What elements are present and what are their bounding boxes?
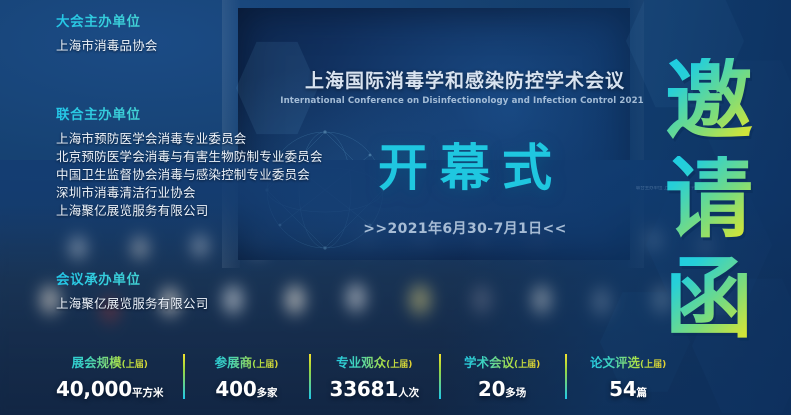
organizer-line: 上海市预防医学会消毒专业委员会: [56, 130, 356, 148]
stat-number: 400: [215, 377, 256, 401]
organizer-heading: 大会主办单位: [56, 10, 356, 30]
organizer-line: 深圳市消毒清洁行业协会: [56, 184, 356, 202]
stat-value: 400多家: [203, 377, 289, 401]
stat-unit: 多场: [505, 387, 526, 399]
stat-item-exhibitors: 参展商(上届) 400多家: [181, 352, 307, 401]
stat-unit: 人次: [398, 387, 419, 399]
stat-item-paper-selection: 论文评选(上届) 54篇: [563, 352, 689, 401]
stat-label-text: 论文评选: [590, 355, 640, 370]
organizer-heading: 联合主办单位: [56, 103, 356, 123]
stat-number: 54: [609, 377, 636, 401]
stat-item-exhibition-area: 展会规模(上届) 40,000平方米: [56, 352, 181, 401]
organizer-line: 中国卫生监督协会消毒与感染控制专业委员会: [56, 166, 356, 184]
stat-unit: 篇: [637, 387, 648, 399]
invitation-char-han: 函: [639, 256, 779, 342]
invitation-char-qing: 请: [639, 156, 779, 242]
stat-unit: 多家: [257, 387, 278, 399]
stat-label: 学术会议(上届): [459, 352, 545, 371]
invitation-char-yao: 邀: [639, 58, 779, 144]
invitation-poster: 上海国际消毒学和感染防控学术会议 International Conferenc…: [0, 0, 791, 415]
organizer-line: 上海聚亿展览服务有限公司: [56, 295, 356, 313]
organizer-heading: 会议承办单位: [56, 268, 356, 288]
stat-value: 40,000平方米: [56, 377, 163, 401]
statistics-bar: 展会规模(上届) 40,000平方米 参展商(上届) 400多家 专业观众(上届…: [56, 352, 689, 401]
stat-label-text: 参展商: [215, 355, 253, 370]
organizer-block-co-host: 联合主办单位 上海市预防医学会消毒专业委员会 北京预防医学会消毒与有害生物防制专…: [56, 103, 356, 220]
stat-item-professional-visitors: 专业观众(上届) 33681人次: [307, 352, 437, 401]
spacer: [56, 69, 356, 103]
stat-label-text: 专业观众: [336, 355, 386, 370]
stat-value: 33681人次: [329, 377, 419, 401]
stat-label-text: 展会规模: [72, 355, 122, 370]
stat-label-term: (上届): [640, 360, 666, 370]
stat-unit: 平方米: [132, 387, 164, 399]
stat-label-term: (上届): [514, 360, 540, 370]
stat-label-term: (上届): [252, 360, 278, 370]
stat-label-term: (上届): [122, 360, 148, 370]
stat-value: 20多场: [459, 377, 545, 401]
stat-value: 54篇: [585, 377, 671, 401]
organizer-line: 上海市消毒品协会: [56, 37, 356, 55]
organizer-block-host: 大会主办单位 上海市消毒品协会: [56, 10, 356, 55]
stat-label: 参展商(上届): [203, 352, 289, 371]
organizer-info-column: 大会主办单位 上海市消毒品协会 联合主办单位 上海市预防医学会消毒专业委员会 北…: [56, 10, 356, 327]
stat-label-text: 学术会议: [464, 355, 514, 370]
organizer-block-undertaker: 会议承办单位 上海聚亿展览服务有限公司: [56, 268, 356, 313]
spacer: [56, 234, 356, 268]
organizer-line: 上海聚亿展览服务有限公司: [56, 202, 356, 220]
stat-number: 33681: [329, 377, 398, 401]
stat-label: 专业观众(上届): [329, 352, 419, 371]
stat-number: 40,000: [56, 377, 132, 401]
stat-item-academic-sessions: 学术会议(上届) 20多场: [437, 352, 563, 401]
stat-label-term: (上届): [386, 360, 412, 370]
stat-number: 20: [478, 377, 505, 401]
stat-label: 论文评选(上届): [585, 352, 671, 371]
organizer-line: 北京预防医学会消毒与有害生物防制专业委员会: [56, 148, 356, 166]
invitation-characters: 邀 请 函: [639, 58, 779, 355]
stat-label: 展会规模(上届): [56, 352, 163, 371]
